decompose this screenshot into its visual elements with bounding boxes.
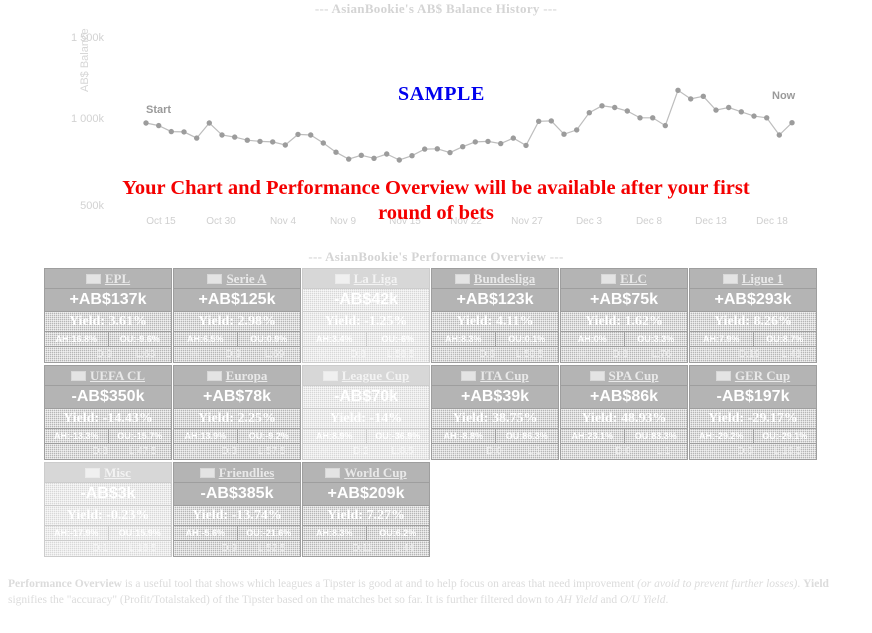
league-wins: W: — [446, 347, 458, 362]
data-point — [346, 156, 351, 161]
league-ou-yield: OU:8.7% — [754, 332, 817, 346]
balance-history-panel: --- AsianBookie's AB$ Balance History --… — [0, 0, 872, 240]
league-ah-ou-row: AH:7.9%OU:8.7% — [690, 332, 816, 347]
league-ou-yield: OU:0.1% — [496, 332, 559, 346]
league-header: La Liga — [303, 269, 429, 289]
league-profit-amount: -AB$3k — [45, 483, 171, 506]
league-ah-yield: AH:6.5% — [174, 332, 238, 346]
league-wins: W: — [188, 444, 200, 459]
league-yield: Yield: 38.75% — [432, 409, 558, 429]
data-point — [435, 146, 440, 151]
league-ou-yield: OU:-36.9% — [367, 429, 430, 443]
data-point — [612, 105, 617, 110]
sample-watermark: SAMPLE — [398, 83, 485, 106]
data-point — [333, 150, 338, 155]
data-point — [549, 118, 554, 123]
league-name: Bundesliga — [474, 271, 535, 286]
league-ou-yield: OU:0.9% — [238, 332, 301, 346]
league-ah-ou-row: AH:-5.6%OU:-21.6% — [174, 526, 300, 541]
league-name: Ligue 1 — [742, 271, 784, 286]
league-card-epl[interactable]: EPL+AB$137kYield: 3.61%AH:16.8%OU:-9.6%W… — [44, 268, 172, 363]
league-losses: L:1 — [656, 444, 670, 459]
league-wdl-row: W:D:9L:69 — [174, 347, 300, 362]
league-yield: Yield: 2.98% — [174, 312, 300, 332]
league-ah-yield: AH:-29.2% — [690, 429, 754, 443]
league-name: ITA Cup — [480, 368, 529, 383]
league-ah-yield: AH:-17.9% — [45, 526, 109, 540]
league-ou-yield: OU:-9.2% — [238, 429, 301, 443]
footer-text-3: signifies the "accuracy" (Profit/Totalst… — [8, 594, 557, 606]
league-profit-amount: +AB$75k — [561, 289, 687, 312]
data-point — [701, 94, 706, 99]
flag-germany-icon — [455, 274, 470, 284]
league-card-elc[interactable]: ELC+AB$75kYield: 1.62%AH:0%OU:3.3%W:D:8L… — [560, 268, 688, 363]
league-draws: D:2 — [353, 444, 369, 459]
league-losses: L:48 — [782, 347, 801, 362]
league-wdl-row: W:D:0L:1 — [561, 444, 687, 459]
league-ah-ou-row: AH:-29.2%OU:-29.1% — [690, 429, 816, 444]
league-profit-amount: +AB$209k — [303, 483, 429, 506]
league-name: GER Cup — [735, 368, 790, 383]
data-point — [156, 123, 161, 128]
footer-italic-2: AH Yield — [557, 594, 598, 606]
league-wins: W: — [704, 444, 716, 459]
league-header: EPL — [45, 269, 171, 289]
league-draws: D:3 — [221, 444, 237, 459]
league-name: League Cup — [342, 368, 410, 383]
data-point — [764, 115, 769, 120]
league-draws: D:8 — [613, 347, 629, 362]
globe-icon — [200, 468, 215, 478]
league-ah-yield: AH:-8.8% — [432, 429, 496, 443]
league-profit-amount: -AB$385k — [174, 483, 300, 506]
footer-lead: Performance Overview — [8, 578, 122, 590]
league-ah-yield: AH:13.9% — [174, 429, 238, 443]
league-losses: L:63 — [136, 347, 155, 362]
league-profit-amount: -AB$197k — [690, 386, 816, 409]
league-draws: D:1 — [92, 541, 108, 556]
league-yield: Yield: 2.25% — [174, 409, 300, 429]
league-ah-ou-row: AH:-17.9%OU:15.9% — [45, 526, 171, 541]
league-yield: Yield: 48.93% — [561, 409, 687, 429]
league-draws: D:19 — [739, 347, 760, 362]
data-point — [625, 108, 630, 113]
league-wins: W: — [317, 347, 329, 362]
league-yield: Yield: 4.11% — [432, 312, 558, 332]
flag-spain-icon — [590, 371, 605, 381]
league-card-league-cup[interactable]: League Cup-AB$70kYield: -14%AH:8.9%OU:-3… — [302, 365, 430, 460]
flag-uefa-icon — [207, 371, 222, 381]
league-losses: L:57.5 — [258, 444, 286, 459]
data-point — [283, 142, 288, 147]
league-profit-amount: -AB$70k — [303, 386, 429, 409]
league-ah-yield: AH:8.9% — [303, 429, 367, 443]
data-point — [650, 115, 655, 120]
data-point — [321, 140, 326, 145]
league-card-la-liga[interactable]: La Liga-AB$42kYield: -1.25%AH:3.4%OU:-6%… — [302, 268, 430, 363]
league-draws: D:11 — [352, 541, 372, 556]
data-point — [384, 151, 389, 156]
data-point — [143, 120, 148, 125]
data-point — [359, 153, 364, 158]
league-profit-amount: +AB$78k — [174, 386, 300, 409]
data-point — [219, 132, 224, 137]
league-ou-yield: OU:3.3% — [625, 332, 688, 346]
footer-text-4: and — [598, 594, 620, 606]
league-draws: D:8 — [350, 347, 366, 362]
flag-england-icon — [86, 274, 101, 284]
league-header: League Cup — [303, 366, 429, 386]
data-point — [637, 115, 642, 120]
league-name: World Cup — [344, 465, 407, 480]
league-ah-yield: AH:3.4% — [303, 332, 367, 346]
league-profit-amount: +AB$125k — [174, 289, 300, 312]
data-point — [599, 103, 604, 108]
league-ah-ou-row: AH:3.4%OU:-6% — [303, 332, 429, 347]
league-losses: L:44 — [395, 541, 414, 556]
data-point — [232, 134, 237, 139]
league-name: La Liga — [354, 271, 398, 286]
league-card-world-cup[interactable]: World Cup+AB$209kYield: 7.27%AH:8.3%OU:6… — [302, 462, 430, 557]
data-point — [422, 146, 427, 151]
league-draws: D:8 — [92, 444, 108, 459]
league-ou-yield: OU:6.2% — [367, 526, 430, 540]
league-ah-yield: AH:16.8% — [45, 332, 109, 346]
data-point — [308, 132, 313, 137]
league-name: UEFA CL — [90, 368, 145, 383]
league-card-serie-a[interactable]: Serie A+AB$125kYield: 2.98%AH:6.5%OU:0.9… — [173, 268, 301, 363]
league-header: Misc — [45, 463, 171, 483]
now-annotation: Now — [772, 90, 795, 102]
league-wins: W: — [188, 541, 200, 556]
world-cup-icon — [325, 468, 340, 478]
league-wdl-row: W:D:8L:58.5 — [303, 347, 429, 362]
flag-england-icon — [601, 274, 616, 284]
league-ah-yield: AH:0% — [561, 332, 625, 346]
data-point — [713, 107, 718, 112]
league-header: UEFA CL — [45, 366, 171, 386]
league-ah-ou-row: AH:0%OU:3.3% — [561, 332, 687, 347]
league-wins: W: — [449, 444, 461, 459]
league-profit-amount: +AB$137k — [45, 289, 171, 312]
league-header: Europa — [174, 366, 300, 386]
league-draws: D:6 — [479, 347, 495, 362]
data-point — [473, 139, 478, 144]
league-wdl-row: W:D:6L:50.5 — [432, 347, 558, 362]
league-draws: D:9 — [226, 347, 242, 362]
league-ou-yield: OU:86.3% — [496, 429, 559, 443]
league-wins: W: — [190, 347, 202, 362]
league-ah-ou-row: AH:13.9%OU:-9.2% — [174, 429, 300, 444]
league-card-ita-cup[interactable]: ITA Cup+AB$39kYield: 38.75%AH:-8.8%OU:86… — [431, 365, 559, 460]
league-header: Ligue 1 — [690, 269, 816, 289]
league-wdl-row: W:D:0L:1 — [432, 444, 558, 459]
league-wdl-row: W:D:11L:44 — [303, 541, 429, 556]
league-ou-yield: OU:-6% — [367, 332, 430, 346]
data-point — [536, 119, 541, 124]
league-ah-yield: AH:23.1% — [561, 429, 625, 443]
data-point — [460, 144, 465, 149]
league-ah-yield: AH:8.3% — [432, 332, 496, 346]
data-point — [511, 135, 516, 140]
data-point — [751, 113, 756, 118]
data-point — [257, 139, 262, 144]
notice-line-1: Your Chart and Performance Overview will… — [0, 176, 872, 201]
league-header: Serie A — [174, 269, 300, 289]
league-losses: L:50.5 — [516, 347, 544, 362]
league-yield: Yield: -1.25% — [303, 312, 429, 332]
league-ah-ou-row: AH:8.3%OU:0.1% — [432, 332, 558, 347]
start-annotation: Start — [146, 104, 171, 116]
league-name: Serie A — [226, 271, 266, 286]
data-point — [245, 138, 250, 143]
league-yield: Yield: 1.62% — [561, 312, 687, 332]
league-losses: L:58.5 — [387, 347, 415, 362]
league-card-europa[interactable]: Europa+AB$78kYield: 2.25%AH:13.9%OU:-9.2… — [173, 365, 301, 460]
league-yield: Yield: -0.23% — [45, 506, 171, 526]
league-name: Europa — [226, 368, 268, 383]
league-header: World Cup — [303, 463, 429, 483]
data-point — [181, 129, 186, 134]
league-yield: Yield: -13.74% — [174, 506, 300, 526]
data-point — [409, 153, 414, 158]
league-card-bundesliga[interactable]: Bundesliga+AB$123kYield: 4.11%AH:8.3%OU:… — [431, 268, 559, 363]
league-wdl-row: W:D:3L:57.5 — [174, 444, 300, 459]
league-ah-yield: AH:7.9% — [690, 332, 754, 346]
flag-germany-icon — [716, 371, 731, 381]
flag-uefa-icon — [71, 371, 86, 381]
league-losses: L:18.5 — [129, 541, 157, 556]
league-name: Misc — [104, 465, 131, 480]
league-ah-yield: AH:8.3% — [303, 526, 367, 540]
league-draws: D:0 — [737, 444, 753, 459]
league-draws: D:0 — [486, 444, 502, 459]
data-point — [523, 143, 528, 148]
performance-overview-grid: EPL+AB$137kYield: 3.61%AH:16.8%OU:-9.6%W… — [44, 268, 828, 559]
data-point — [561, 132, 566, 137]
league-ah-ou-row: AH:23.1%OU:83.3% — [561, 429, 687, 444]
performance-overview-title: --- AsianBookie's Performance Overview -… — [0, 249, 872, 265]
league-wins: W: — [59, 541, 71, 556]
league-wdl-row: W:D:1L:18.5 — [45, 541, 171, 556]
flag-spain-icon — [335, 274, 350, 284]
league-losses: L:47.5 — [129, 444, 157, 459]
league-card-ligue-1[interactable]: Ligue 1+AB$293kYield: 8.26%AH:7.9%OU:8.7… — [689, 268, 817, 363]
league-card-friendlies[interactable]: Friendlies-AB$385kYield: -13.74%AH:-5.6%… — [173, 462, 301, 557]
league-header: Bundesliga — [432, 269, 558, 289]
data-point — [675, 88, 680, 93]
league-losses: L:76 — [652, 347, 671, 362]
flag-italy-icon — [207, 274, 222, 284]
league-wins: W: — [577, 347, 589, 362]
league-losses: L:69 — [265, 347, 284, 362]
footer-bold-2: Yield — [803, 578, 829, 590]
data-point — [447, 150, 452, 155]
league-ou-yield: OU:-9.6% — [109, 332, 172, 346]
data-point — [739, 109, 744, 114]
league-ah-ou-row: AH:8.9%OU:-36.9% — [303, 429, 429, 444]
league-losses: L:52.5 — [258, 541, 286, 556]
data-point — [688, 96, 693, 101]
data-point — [587, 110, 592, 115]
league-ah-ou-row: AH:-8.8%OU:86.3% — [432, 429, 558, 444]
no-data-notice: Your Chart and Performance Overview will… — [0, 176, 872, 226]
league-profit-amount: +AB$293k — [690, 289, 816, 312]
league-ah-ou-row: AH:-13.3%OU:-15.7% — [45, 429, 171, 444]
league-card-misc[interactable]: Misc-AB$3kYield: -0.23%AH:-17.9%OU:15.9%… — [44, 462, 172, 557]
league-yield: Yield: -29.17% — [690, 409, 816, 429]
league-wdl-row: W:D:8L:47.5 — [45, 444, 171, 459]
data-point — [789, 120, 794, 125]
league-header: SPA Cup — [561, 366, 687, 386]
league-ah-ou-row: AH:8.3%OU:6.2% — [303, 526, 429, 541]
league-losses: L:1 — [527, 444, 541, 459]
league-wins: W: — [59, 444, 71, 459]
data-point — [485, 139, 490, 144]
league-ah-ou-row: AH:6.5%OU:0.9% — [174, 332, 300, 347]
league-card-spa-cup[interactable]: SPA Cup+AB$86kYield: 48.93%AH:23.1%OU:83… — [560, 365, 688, 460]
data-point — [777, 132, 782, 137]
notice-line-2: round of bets — [0, 201, 872, 226]
data-point — [169, 129, 174, 134]
flag-england-icon — [323, 371, 338, 381]
league-header: ELC — [561, 269, 687, 289]
league-wdl-row: W:D:0L:16.5 — [690, 444, 816, 459]
league-wdl-row: W:D:8L:76 — [561, 347, 687, 362]
league-profit-amount: +AB$39k — [432, 386, 558, 409]
league-ah-ou-row: AH:16.8%OU:-9.6% — [45, 332, 171, 347]
league-profit-amount: +AB$123k — [432, 289, 558, 312]
league-losses: L:8.5 — [391, 444, 413, 459]
league-header: GER Cup — [690, 366, 816, 386]
footer-text-5: . — [665, 594, 668, 606]
flag-france-icon — [723, 274, 738, 284]
league-ou-yield: OU:-29.1% — [754, 429, 817, 443]
data-point — [397, 157, 402, 162]
league-name: EPL — [105, 271, 130, 286]
league-yield: Yield: -14% — [303, 409, 429, 429]
league-ou-yield: OU:15.9% — [109, 526, 172, 540]
league-draws: D:9 — [97, 347, 113, 362]
data-point — [663, 123, 668, 128]
footer-text-1: is a useful tool that shows which league… — [122, 578, 637, 590]
data-point — [270, 139, 275, 144]
data-point — [498, 141, 503, 146]
data-point — [371, 156, 376, 161]
league-wins: W: — [318, 444, 330, 459]
league-header: ITA Cup — [432, 366, 558, 386]
league-ou-yield: OU:-15.7% — [109, 429, 172, 443]
league-ou-yield: OU:83.3% — [625, 429, 688, 443]
data-point — [726, 105, 731, 110]
league-name: Friendlies — [219, 465, 275, 480]
league-yield: Yield: 8.26% — [690, 312, 816, 332]
league-wins: W: — [705, 347, 717, 362]
league-wins: W: — [318, 541, 330, 556]
data-point — [207, 120, 212, 125]
league-draws: D:9 — [221, 541, 237, 556]
league-ou-yield: OU:-21.6% — [238, 526, 301, 540]
data-point — [194, 135, 199, 140]
league-losses: L:16.5 — [774, 444, 802, 459]
flag-italy-icon — [461, 371, 476, 381]
league-wdl-row: W:D:2L:8.5 — [303, 444, 429, 459]
league-header: Friendlies — [174, 463, 300, 483]
league-yield: Yield: 3.61% — [45, 312, 171, 332]
league-ah-yield: AH:-13.3% — [45, 429, 109, 443]
league-name: ELC — [620, 271, 647, 286]
league-yield: Yield: 7.27% — [303, 506, 429, 526]
footer-explanation: Performance Overview is a useful tool th… — [8, 576, 864, 608]
footer-italic-1: (or avoid to prevent further losses) — [637, 578, 797, 590]
league-name: SPA Cup — [609, 368, 659, 383]
league-draws: D:0 — [615, 444, 631, 459]
league-ah-yield: AH:-5.6% — [174, 526, 238, 540]
league-yield: Yield: -14.43% — [45, 409, 171, 429]
league-wdl-row: W:D:9L:52.5 — [174, 541, 300, 556]
league-wdl-row: W:D:9L:63 — [45, 347, 171, 362]
data-point — [295, 132, 300, 137]
footer-italic-3: O/U Yield — [620, 594, 665, 606]
league-wins: W: — [578, 444, 590, 459]
league-profit-amount: -AB$42k — [303, 289, 429, 312]
league-profit-amount: -AB$350k — [45, 386, 171, 409]
league-wdl-row: W:D:19L:48 — [690, 347, 816, 362]
globe-icon — [85, 468, 100, 478]
league-profit-amount: +AB$86k — [561, 386, 687, 409]
league-card-uefa-cl[interactable]: UEFA CL-AB$350kYield: -14.43%AH:-13.3%OU… — [44, 365, 172, 460]
league-card-ger-cup[interactable]: GER Cup-AB$197kYield: -29.17%AH:-29.2%OU… — [689, 365, 817, 460]
league-wins: W: — [61, 347, 73, 362]
data-point — [574, 127, 579, 132]
